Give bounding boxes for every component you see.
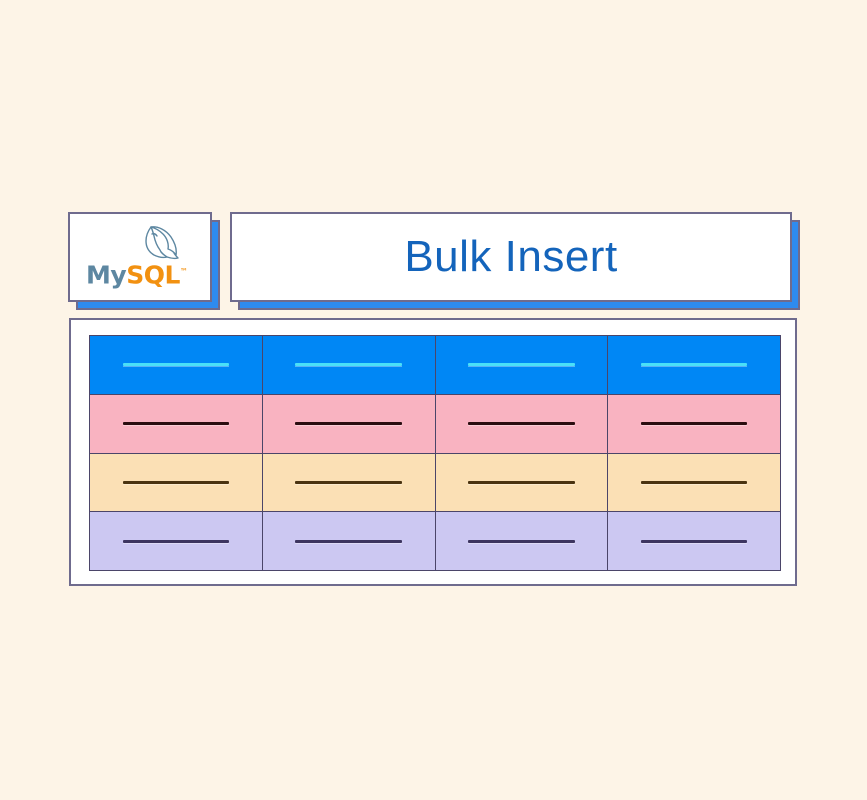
mysql-wordmark-sql: SQL	[126, 260, 180, 289]
cell-placeholder-line	[123, 422, 229, 425]
table-cell[interactable]	[608, 512, 780, 570]
data-table[interactable]	[89, 335, 781, 571]
table-cell[interactable]	[90, 395, 263, 453]
page-title: Bulk Insert	[404, 235, 617, 279]
cell-placeholder-line	[641, 422, 747, 425]
cell-placeholder-line	[468, 422, 574, 425]
cell-placeholder-line	[468, 363, 574, 366]
title-card[interactable]: Bulk Insert	[230, 212, 792, 302]
table-header-cell[interactable]	[263, 336, 436, 394]
cell-placeholder-line	[468, 540, 574, 543]
cell-placeholder-line	[295, 481, 401, 484]
cell-placeholder-line	[641, 363, 747, 366]
table-cell[interactable]	[263, 512, 436, 570]
table-header-row	[90, 336, 780, 395]
table-header-cell[interactable]	[608, 336, 780, 394]
table-cell[interactable]	[436, 395, 609, 453]
table-cell[interactable]	[263, 395, 436, 453]
cell-placeholder-line	[295, 422, 401, 425]
cell-placeholder-line	[123, 363, 229, 366]
table-card	[69, 318, 797, 586]
cell-placeholder-line	[295, 363, 401, 366]
table-row	[90, 512, 780, 570]
cell-placeholder-line	[123, 481, 229, 484]
cell-placeholder-line	[641, 540, 747, 543]
mysql-wordmark: MySQL™	[86, 257, 194, 287]
mysql-wordmark-my: My	[86, 260, 126, 289]
table-cell[interactable]	[90, 454, 263, 512]
header-band: MySQL™ Bulk Insert	[68, 212, 798, 310]
dolphin-icon	[130, 225, 182, 261]
table-cell[interactable]	[263, 454, 436, 512]
table-cell[interactable]	[608, 395, 780, 453]
table-cell[interactable]	[90, 512, 263, 570]
cell-placeholder-line	[468, 481, 574, 484]
mysql-logo-card[interactable]: MySQL™	[68, 212, 212, 302]
table-cell[interactable]	[436, 512, 609, 570]
table-row	[90, 395, 780, 454]
table-cell[interactable]	[608, 454, 780, 512]
mysql-logo: MySQL™	[86, 225, 194, 289]
table-header-cell[interactable]	[436, 336, 609, 394]
cell-placeholder-line	[295, 540, 401, 543]
cell-placeholder-line	[123, 540, 229, 543]
table-cell[interactable]	[436, 454, 609, 512]
table-header-cell[interactable]	[90, 336, 263, 394]
mysql-trademark: ™	[180, 267, 188, 276]
table-row	[90, 454, 780, 513]
cell-placeholder-line	[641, 481, 747, 484]
slide-canvas: MySQL™ Bulk Insert	[0, 0, 867, 800]
